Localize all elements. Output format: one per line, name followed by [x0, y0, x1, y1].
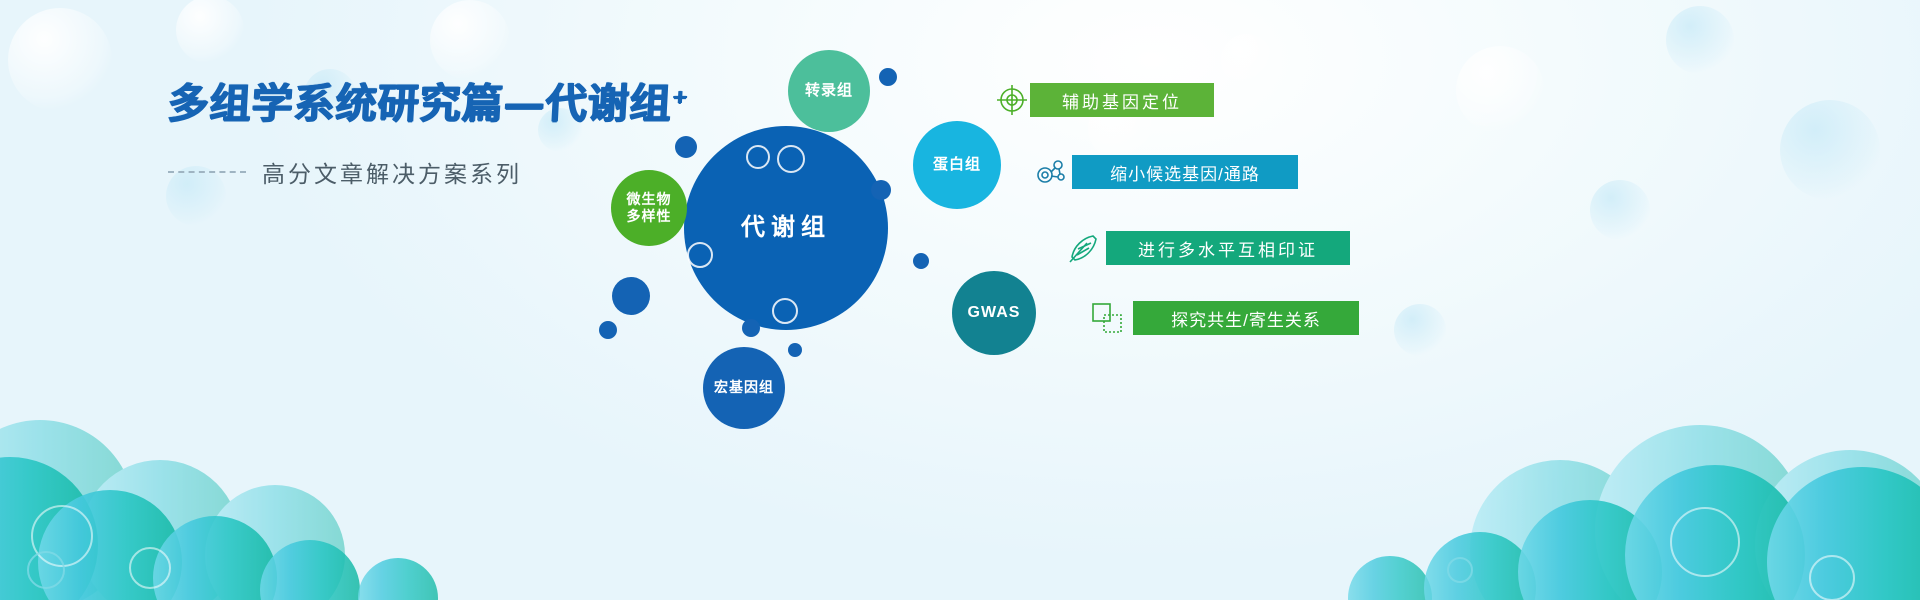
accent-ring: [772, 298, 798, 324]
molecule-icon: [1030, 150, 1074, 194]
feather-icon: [1060, 226, 1104, 270]
page-subtitle: 高分文章解决方案系列: [262, 155, 522, 189]
decor-bubble: [1456, 46, 1544, 134]
banner-canvas: 多组学系统研究篇—代谢组+ 高分文章解决方案系列 代谢组转录组蛋白组GWAS宏基…: [0, 0, 1920, 600]
decor-bubble: [1221, 34, 1273, 86]
decor-bubble: [1780, 100, 1880, 200]
accent-ring: [746, 145, 770, 169]
accent-dot: [913, 253, 929, 269]
label-row-multi-level[interactable]: 进行多水平互相印证: [1060, 226, 1350, 270]
bubble-label: 微生物 多样性: [627, 191, 672, 225]
label-row-symbiosis[interactable]: 探究共生/寄生关系: [1085, 296, 1359, 340]
page-title-text: 多组学系统研究篇—代谢组: [167, 80, 674, 128]
accent-dot: [675, 136, 697, 158]
accent-dot: [871, 180, 891, 200]
bubble-label: 代谢组: [741, 213, 831, 242]
bubble-transcriptome[interactable]: 转录组: [788, 50, 870, 132]
accent-ring: [687, 242, 713, 268]
accent-ring: [777, 145, 805, 173]
label-bar-multi-level[interactable]: 进行多水平互相印证: [1106, 231, 1350, 265]
bubble-gwas[interactable]: GWAS: [952, 271, 1036, 355]
frames-icon: [1085, 296, 1129, 340]
label-bar-gene-mapping[interactable]: 辅助基因定位: [1030, 83, 1214, 117]
label-text: 辅助基因定位: [1062, 88, 1182, 113]
label-row-candidate-gene[interactable]: 缩小候选基因/通路: [1030, 150, 1298, 194]
label-text: 进行多水平互相印证: [1138, 236, 1318, 261]
label-text: 探究共生/寄生关系: [1171, 306, 1321, 331]
label-row-gene-mapping[interactable]: 辅助基因定位: [990, 78, 1214, 122]
label-bar-symbiosis[interactable]: 探究共生/寄生关系: [1133, 301, 1359, 335]
decor-bubble: [8, 8, 112, 112]
bubble-proteome[interactable]: 蛋白组: [913, 121, 1001, 209]
bottom-wave-decoration: [0, 340, 1920, 600]
bubble-metagenome[interactable]: 宏基因组: [703, 347, 785, 429]
target-icon: [990, 78, 1034, 122]
decor-bubble: [1666, 6, 1734, 74]
bubble-label: 蛋白组: [933, 156, 981, 174]
label-bar-candidate-gene[interactable]: 缩小候选基因/通路: [1072, 155, 1298, 189]
bubble-label: 转录组: [805, 82, 853, 100]
accent-dot: [788, 343, 802, 357]
decor-bubble: [176, 0, 244, 64]
decor-bubble: [1590, 180, 1650, 240]
accent-dot: [742, 319, 760, 337]
accent-dot: [612, 277, 650, 315]
accent-dot: [879, 68, 897, 86]
decor-bubble: [430, 0, 510, 80]
bubble-label: GWAS: [968, 303, 1021, 323]
dashed-rule: [168, 171, 246, 173]
page-title: 多组学系统研究篇—代谢组+: [167, 72, 810, 129]
bubble-microbiome[interactable]: 微生物 多样性: [611, 170, 687, 246]
accent-dot: [599, 321, 617, 339]
label-text: 缩小候选基因/通路: [1110, 160, 1260, 185]
page-title-superscript: +: [672, 86, 690, 108]
bubble-label: 宏基因组: [714, 379, 774, 396]
